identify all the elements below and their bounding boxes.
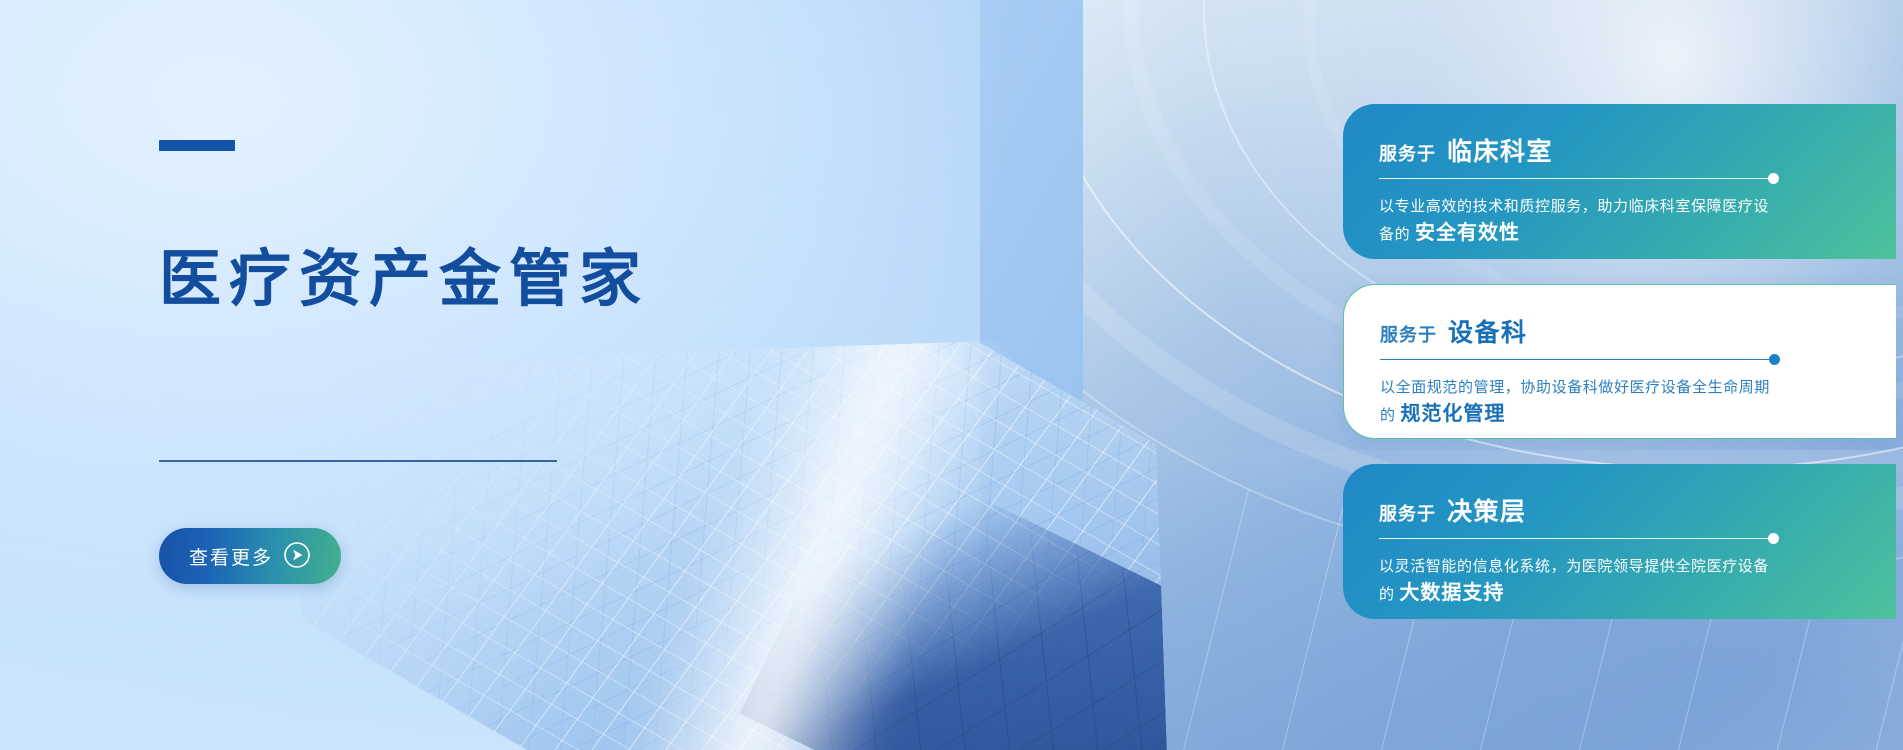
card-rule <box>1379 538 1773 539</box>
arrow-right-circle-icon <box>283 541 311 572</box>
accent-bar <box>159 140 235 151</box>
hero-left-column: 医疗资产金管家 查看更多 <box>159 0 799 750</box>
card-rule-line <box>1379 178 1773 179</box>
view-more-label: 查看更多 <box>189 543 273 570</box>
card-body: 以专业高效的技术和质控服务，助力临床科室保障医疗设备的 安全有效性 <box>1379 193 1779 248</box>
service-card-equipment[interactable]: 服务于 设备科 以全面规范的管理，协助设备科做好医疗设备全生命周期的 规范化管理 <box>1343 284 1896 439</box>
card-rule <box>1379 178 1773 179</box>
card-body-highlight: 规范化管理 <box>1400 403 1505 425</box>
card-rule-dot <box>1769 354 1780 365</box>
view-more-button[interactable]: 查看更多 <box>159 528 341 584</box>
service-card-clinical[interactable]: 服务于 临床科室 以专业高效的技术和质控服务，助力临床科室保障医疗设备的 安全有… <box>1343 104 1896 259</box>
card-rule <box>1380 359 1774 360</box>
card-target: 临床科室 <box>1447 132 1553 168</box>
service-card-list: 服务于 临床科室 以专业高效的技术和质控服务，助力临床科室保障医疗设备的 安全有… <box>1343 0 1903 750</box>
card-heading: 服务于 临床科室 <box>1379 132 1896 168</box>
page-title: 医疗资产金管家 <box>159 244 649 315</box>
card-rule-dot <box>1768 533 1779 544</box>
card-prefix: 服务于 <box>1379 140 1436 166</box>
card-rule-line <box>1380 359 1774 360</box>
card-body-highlight: 安全有效性 <box>1415 222 1520 244</box>
hero-banner: 医疗资产金管家 查看更多 服务于 临床科室 以专业 <box>0 0 1903 750</box>
service-card-decision[interactable]: 服务于 决策层 以灵活智能的信息化系统，为医院领导提供全院医疗设备的 大数据支持 <box>1343 464 1896 619</box>
card-rule-dot <box>1768 173 1779 184</box>
card-body: 以灵活智能的信息化系统，为医院领导提供全院医疗设备的 大数据支持 <box>1379 553 1779 608</box>
hero-divider <box>159 460 557 462</box>
card-target: 设备科 <box>1448 313 1528 349</box>
card-target: 决策层 <box>1447 492 1527 528</box>
card-heading: 服务于 决策层 <box>1379 492 1896 528</box>
card-heading: 服务于 设备科 <box>1380 313 1896 349</box>
card-body-highlight: 大数据支持 <box>1399 582 1504 604</box>
card-prefix: 服务于 <box>1379 500 1436 526</box>
card-rule-line <box>1379 538 1773 539</box>
card-body: 以全面规范的管理，协助设备科做好医疗设备全生命周期的 规范化管理 <box>1380 374 1780 429</box>
card-prefix: 服务于 <box>1380 321 1437 347</box>
